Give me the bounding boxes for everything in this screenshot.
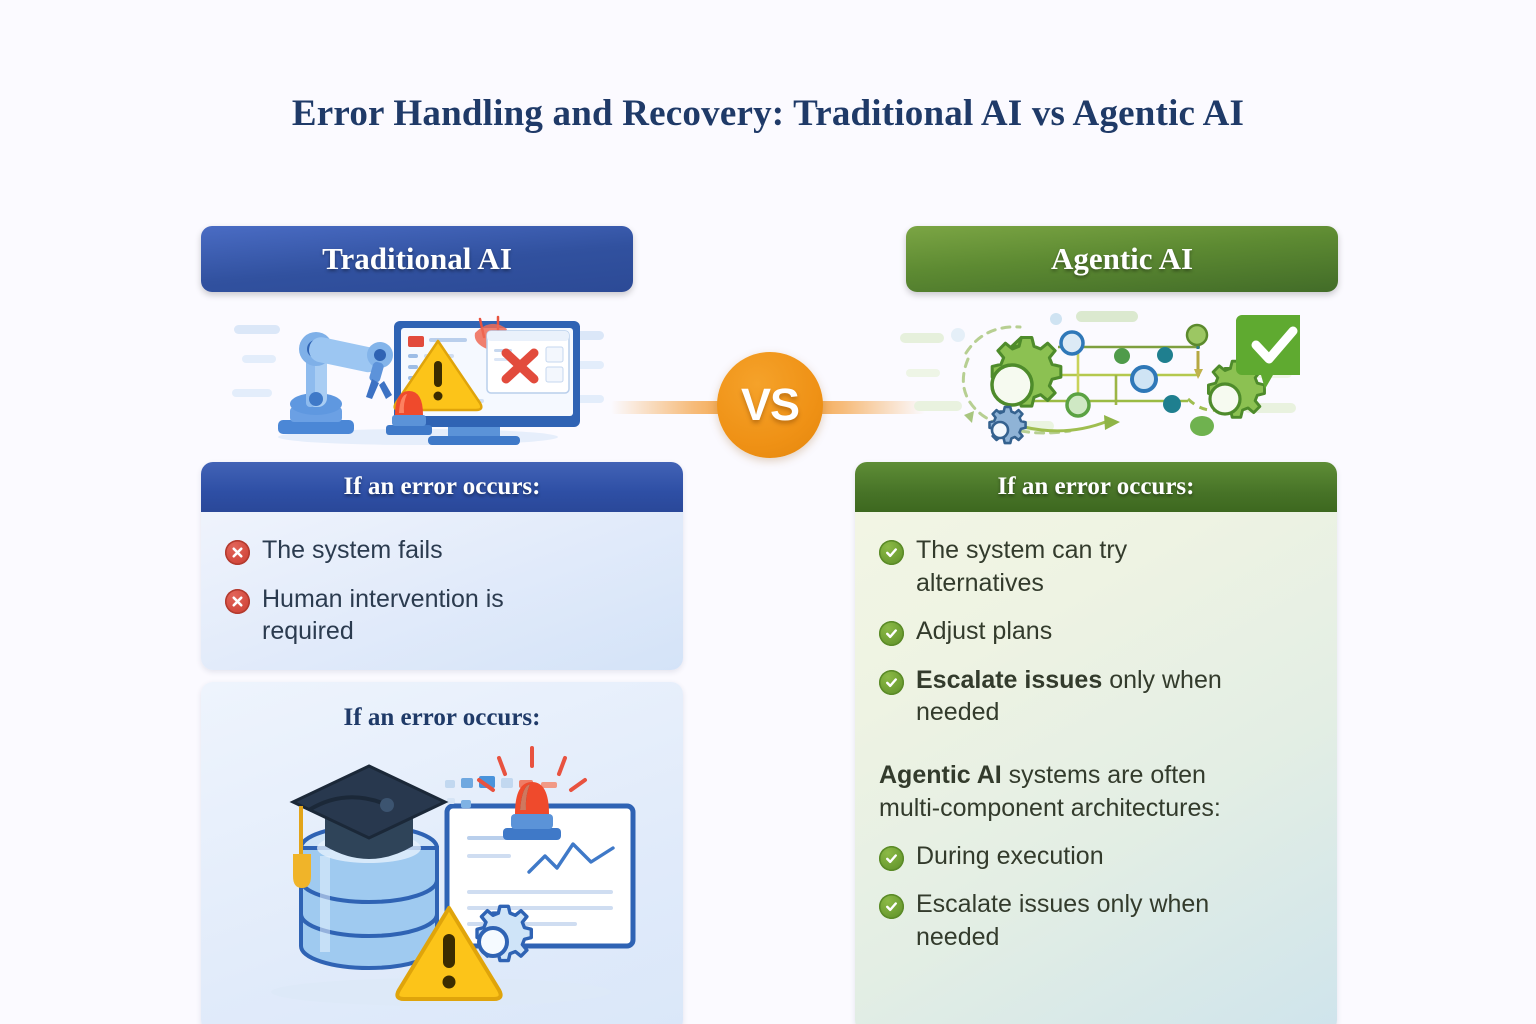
agentic-ai-bullet-list: The system can try alternatives Adjust p…: [879, 534, 1311, 729]
list-item: The system fails: [225, 534, 657, 567]
traditional-ai-error-card-header: If an error occurs:: [201, 462, 683, 512]
list-item: Escalate issues only when needed: [879, 888, 1311, 953]
banner-traditional-ai: Traditional AI: [201, 226, 633, 292]
vs-badge: VS: [611, 352, 925, 462]
agentic-ai-architecture-paragraph-lead: Agentic AI: [879, 761, 1002, 789]
gears-network-checkmark-illustration: [900, 303, 1300, 448]
robot-arm-monitor-error-illustration: [232, 303, 604, 448]
check-circle-icon: [879, 621, 904, 646]
list-item-label: Human intervention is required: [262, 583, 592, 648]
list-item-label: The system can try alternatives: [916, 534, 1246, 599]
banner-traditional-ai-label: Traditional AI: [322, 241, 512, 277]
check-circle-icon: [879, 670, 904, 695]
list-item-label: Escalate issues only when needed: [916, 888, 1246, 953]
list-item: Escalate issues only when needed: [879, 664, 1311, 729]
check-circle-icon: [879, 540, 904, 565]
banner-agentic-ai: Agentic AI: [906, 226, 1338, 292]
list-item: The system can try alternatives: [879, 534, 1311, 599]
agentic-ai-error-card: If an error occurs: The system can try a…: [855, 462, 1337, 1024]
agentic-ai-error-card-body: The system can try alternatives Adjust p…: [855, 512, 1337, 971]
x-circle-icon: [225, 589, 250, 614]
check-circle-icon: [879, 894, 904, 919]
list-item-label: The system fails: [262, 534, 443, 567]
agentic-ai-bullet-list-secondary: During execution Escalate issues only wh…: [879, 840, 1311, 954]
database-graduation-cap-alert-illustration: [229, 744, 653, 1024]
vs-badge-label: VS: [717, 352, 823, 458]
list-item-lead: Escalate issues: [916, 666, 1102, 694]
traditional-ai-error-card-body: The system fails Human intervention is r…: [201, 512, 683, 666]
check-circle-icon: [879, 846, 904, 871]
traditional-ai-error-card: If an error occurs: The system fails Hum…: [201, 462, 683, 670]
list-item: During execution: [879, 840, 1311, 873]
traditional-ai-secondary-card-header: If an error occurs:: [201, 682, 683, 732]
agentic-ai-error-card-header: If an error occurs:: [855, 462, 1337, 512]
page-title: Error Handling and Recovery: Traditional…: [0, 92, 1536, 135]
x-circle-icon: [225, 540, 250, 565]
traditional-ai-secondary-card: If an error occurs:: [201, 682, 683, 1024]
list-item-label: During execution: [916, 840, 1104, 873]
vs-connector-left: [611, 401, 729, 414]
traditional-ai-bullet-list: The system fails Human intervention is r…: [225, 534, 657, 648]
list-item-label: Escalate issues only when needed: [916, 664, 1246, 729]
traditional-ai-error-card-header-label: If an error occurs:: [344, 473, 541, 501]
agentic-ai-architecture-paragraph: Agentic AI systems are often multi-compo…: [879, 759, 1229, 826]
list-item: Adjust plans: [879, 615, 1311, 648]
list-item: Human intervention is required: [225, 583, 657, 648]
list-item-label: Adjust plans: [916, 615, 1052, 648]
banner-agentic-ai-label: Agentic AI: [1051, 241, 1193, 277]
agentic-ai-error-card-header-label: If an error occurs:: [998, 473, 1195, 501]
